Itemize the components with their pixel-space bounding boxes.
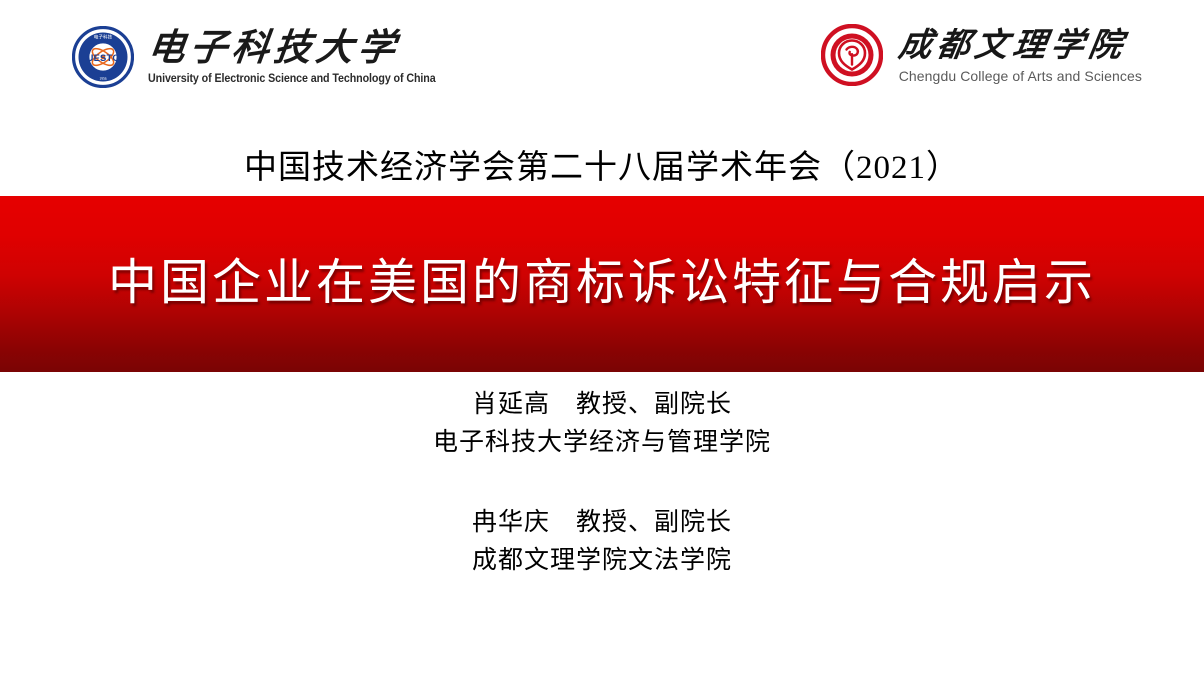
uestc-logo: UESTC 电子科技 1956 电子科技大学 University of Ele… [72,26,457,88]
author-spacer [0,462,1204,504]
author-entry: 冉华庆 教授、副院长 成都文理学院文法学院 [0,504,1204,580]
author-list: 肖延高 教授、副院长 电子科技大学经济与管理学院 冉华庆 教授、副院长 成都文理… [0,386,1204,580]
logo-bar: UESTC 电子科技 1956 电子科技大学 University of Ele… [0,0,1204,120]
uestc-name-cn: 电子科技大学 [146,29,460,69]
svg-text:UESTC: UESTC [87,52,120,63]
author-entry: 肖延高 教授、副院长 电子科技大学经济与管理学院 [0,386,1204,462]
title-banner: 中国企业在美国的商标诉讼特征与合规启示 [0,196,1204,372]
chengdu-college-wordmark: 成都文理学院 Chengdu College of Arts and Scien… [899,27,1142,84]
uestc-name-en: University of Electronic Science and Tec… [148,73,436,85]
uestc-circular-seal-icon: UESTC 电子科技 1956 [72,26,134,88]
svg-text:电子科技: 电子科技 [94,34,113,41]
presentation-title: 中国企业在美国的商标诉讼特征与合规启示 [108,252,1096,316]
conference-title: 中国技术经济学会第二十八届学术年会（2021） [0,146,1204,190]
chengdu-college-name-cn: 成都文理学院 [896,27,1145,65]
chengdu-college-logo: 成都文理学院 Chengdu College of Arts and Scien… [821,24,1142,86]
author-affiliation: 电子科技大学经济与管理学院 [0,424,1204,462]
presentation-slide: UESTC 电子科技 1956 电子科技大学 University of Ele… [0,0,1204,678]
author-name-and-role: 肖延高 教授、副院长 [0,386,1204,424]
chengdu-college-circular-seal-icon [821,24,883,86]
chengdu-college-name-en: Chengdu College of Arts and Sciences [899,68,1142,84]
author-name-and-role: 冉华庆 教授、副院长 [0,504,1204,542]
author-affiliation: 成都文理学院文法学院 [0,542,1204,580]
svg-text:1956: 1956 [99,77,106,81]
uestc-logo-wordmark: 电子科技大学 University of Electronic Science … [148,29,457,85]
